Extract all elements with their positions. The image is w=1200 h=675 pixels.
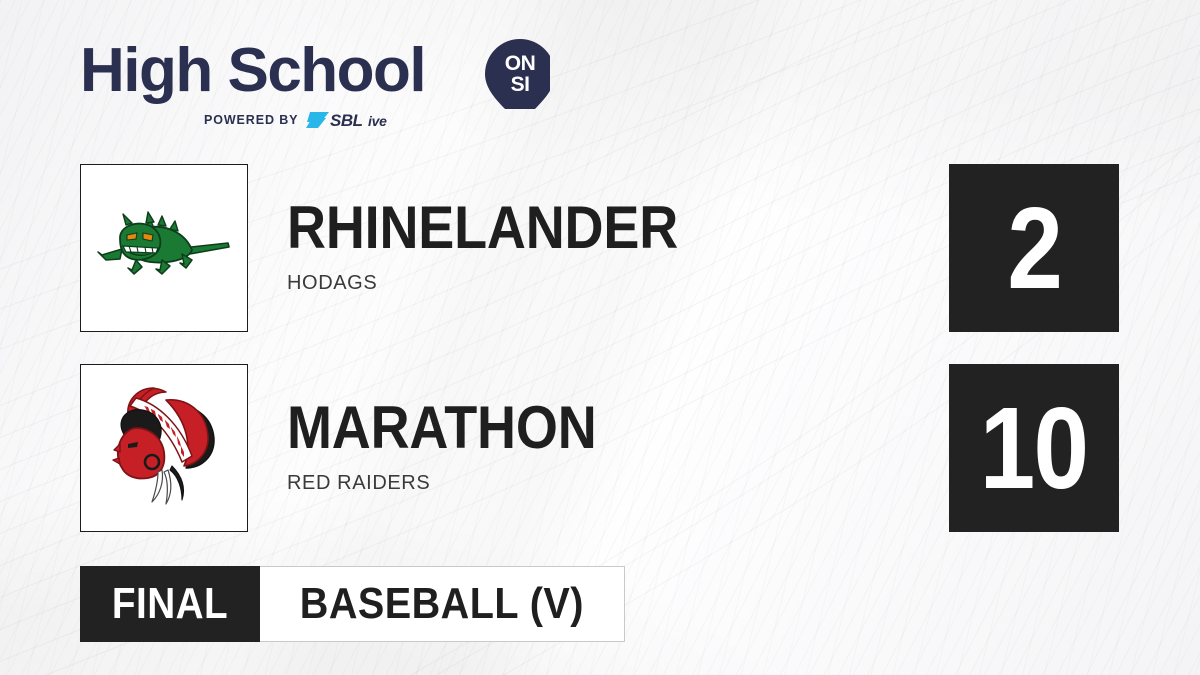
team-identity: MARATHON RED RAIDERS: [287, 398, 631, 493]
team-score-box: 2: [949, 164, 1119, 332]
team-score-box: 10: [949, 364, 1119, 532]
game-status-bar: FINAL BASEBALL (V): [80, 566, 625, 642]
sblive-wordmark-part1: SBL: [330, 111, 363, 130]
team-name: MARATHON: [287, 398, 597, 458]
game-status-badge: FINAL: [80, 566, 260, 642]
on-si-pin-icon: ON SI: [485, 39, 550, 109]
sport-label: BASEBALL (V): [300, 582, 584, 626]
brand-wordmark-text: High School: [80, 36, 425, 105]
game-status-label: FINAL: [112, 582, 228, 626]
team-row: MARATHON RED RAIDERS 10: [80, 364, 1120, 534]
sblive-mark: [306, 112, 329, 128]
high-school-on-si-wordmark: High School ON SI: [80, 33, 550, 109]
team-score: 2: [1007, 190, 1061, 306]
team-mascot: RED RAIDERS: [287, 473, 631, 493]
powered-by-lockup: POWERED BY SBL ive: [204, 109, 405, 131]
team-name: RHINELANDER: [287, 198, 678, 258]
team-logo-card: [80, 164, 248, 332]
sblive-wordmark-part2: ive: [368, 113, 387, 129]
powered-by-label: POWERED BY: [204, 114, 298, 127]
pin-top-label: ON: [505, 52, 536, 75]
hodag-logo-icon: [94, 178, 234, 318]
sport-label-box: BASEBALL (V): [260, 566, 625, 642]
team-row: RHINELANDER HODAGS 2: [80, 164, 1120, 334]
team-mascot: HODAGS: [287, 273, 721, 293]
sblive-logo-icon: SBL ive: [305, 109, 405, 131]
team-score: 10: [980, 390, 1088, 506]
scoreboard-graphic: High School ON SI POWERED BY SBL ive: [0, 0, 1200, 675]
team-identity: RHINELANDER HODAGS: [287, 198, 721, 293]
brand-lockup: High School ON SI POWERED BY SBL ive: [80, 33, 550, 133]
pin-bottom-label: SI: [511, 73, 530, 96]
red-raider-logo-icon: [94, 378, 234, 518]
team-logo-card: [80, 364, 248, 532]
